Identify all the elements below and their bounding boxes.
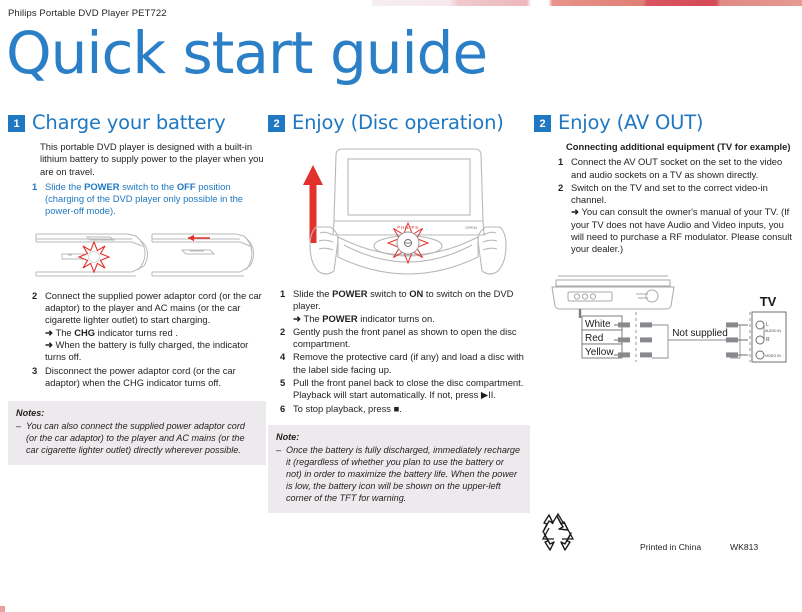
steps-list-1b: 2Connect the supplied power adaptor cord… xyxy=(8,290,266,389)
step-emphasis: POWER xyxy=(322,313,357,324)
control-glyph-icon: ▶II xyxy=(481,389,493,400)
step-item: 2Gently push the front panel as shown to… xyxy=(280,326,530,351)
step-body: Connect the supplied power adaptor cord … xyxy=(45,290,266,364)
section-intro: This portable DVD player is designed wit… xyxy=(8,141,266,178)
svg-text:OPEN: OPEN xyxy=(465,225,476,230)
section-header: 1 Charge your battery xyxy=(8,112,266,133)
step-body: Pull the front panel back to close the d… xyxy=(293,377,530,402)
steps-list-3: 1Connect the AV OUT socket on the set to… xyxy=(534,156,798,255)
step-emphasis: ON xyxy=(409,288,423,299)
step-text: Gently push the front panel as shown to … xyxy=(293,326,517,349)
step-text: You can consult the owner's manual of yo… xyxy=(571,206,792,254)
step-item: 3Disconnect the power adaptor cord (or t… xyxy=(32,365,266,390)
step-text: Connect the supplied power adaptor cord … xyxy=(45,290,262,326)
step-text: When the battery is fully charged, the i… xyxy=(45,339,248,362)
step-number: 1 xyxy=(558,156,567,181)
step-emphasis: POWER xyxy=(332,288,367,299)
note-dash: – xyxy=(276,444,283,504)
section-header: 2 Enjoy (Disc operation) xyxy=(268,112,530,133)
step-number: 2 xyxy=(32,290,41,364)
cable-label-white: White xyxy=(585,319,611,330)
top-color-strip xyxy=(372,0,802,6)
notes-box-disc: Note: – Once the battery is fully discha… xyxy=(268,425,530,513)
steps-list-2: 1Slide the POWER switch to ON to switch … xyxy=(268,288,530,415)
cable-label-yellow: Yellow xyxy=(585,347,614,358)
step-result-line: ➜ The CHG indicator turns red . xyxy=(45,327,266,339)
svg-text:PHILIPS: PHILIPS xyxy=(397,225,418,230)
step-emphasis: CHG xyxy=(74,327,95,338)
step-text: switch to the xyxy=(120,181,177,192)
step-text: . xyxy=(493,389,496,400)
step-number: 1 xyxy=(280,288,289,325)
section-badge: 2 xyxy=(534,115,551,132)
step-item: 1Slide the POWER switch to ON to switch … xyxy=(280,288,530,325)
bottom-color-mark xyxy=(0,606,5,612)
not-supplied-label: Not supplied xyxy=(672,328,728,339)
step-item: 1Connect the AV OUT socket on the set to… xyxy=(558,156,798,181)
step-item: 5Pull the front panel back to close the … xyxy=(280,377,530,402)
step-body: Slide the POWER switch to ON to switch o… xyxy=(293,288,530,325)
step-item: 4Remove the protective card (if any) and… xyxy=(280,351,530,376)
step-result-line: ➜ You can consult the owner's manual of … xyxy=(571,206,798,255)
av-out-connection-diagram: White Red Yellow xyxy=(544,270,798,370)
svg-text:VIDEO IN: VIDEO IN xyxy=(765,354,781,358)
svg-text:AUDIO IN: AUDIO IN xyxy=(765,329,781,333)
notes-box-charge: Notes: – You can also connect the suppli… xyxy=(8,401,266,465)
section-subhead: Connecting additional equipment (TV for … xyxy=(534,141,798,153)
step-item: 1Slide the POWER switch to the OFF posit… xyxy=(32,181,266,218)
section-charge-battery: 1 Charge your battery This portable DVD … xyxy=(8,112,266,465)
step-body: Connect the AV OUT socket on the set to … xyxy=(571,156,798,181)
quick-start-guide-page: Philips Portable DVD Player PET722 Quick… xyxy=(0,0,802,612)
step-item: 2Connect the supplied power adaptor cord… xyxy=(32,290,266,364)
player-open-disc-compartment: PHILIPS OPEN xyxy=(286,145,530,280)
step-body: Slide the POWER switch to the OFF positi… xyxy=(45,181,266,218)
section-enjoy-avout: 2 Enjoy (AV OUT) Connecting additional e… xyxy=(534,112,798,370)
step-number: 2 xyxy=(558,182,567,256)
arrow-bullet-icon: ➜ xyxy=(571,206,581,217)
step-text: Disconnect the power adaptor cord (or th… xyxy=(45,365,236,388)
svg-text:R: R xyxy=(766,337,770,343)
section-title: Charge your battery xyxy=(32,112,226,133)
arrow-bullet-icon: ➜ xyxy=(293,313,303,324)
arrow-bullet-icon: ➜ xyxy=(45,327,55,338)
note-item: – Once the battery is fully discharged, … xyxy=(276,444,522,504)
step-emphasis: OFF xyxy=(177,181,196,192)
step-body: Remove the protective card (if any) and … xyxy=(293,351,530,376)
section-badge: 1 xyxy=(8,115,25,132)
step-emphasis: POWER xyxy=(84,181,119,192)
section-header: 2 Enjoy (AV OUT) xyxy=(534,112,798,133)
step-text: Slide the xyxy=(293,288,332,299)
recycle-icon xyxy=(537,512,579,557)
step-body: Disconnect the power adaptor cord (or th… xyxy=(45,365,266,390)
step-item: 2Switch on the TV and set to the correct… xyxy=(558,182,798,256)
section-title: Enjoy (Disc operation) xyxy=(292,112,504,133)
section-enjoy-disc: 2 Enjoy (Disc operation) xyxy=(268,112,530,513)
step-text: Slide the xyxy=(45,181,84,192)
step-body: Switch on the TV and set to the correct … xyxy=(571,182,798,256)
step-text: The xyxy=(303,313,322,324)
step-text: Remove the protective card (if any) and … xyxy=(293,351,524,374)
section-title: Enjoy (AV OUT) xyxy=(558,112,703,133)
note-item: – You can also connect the supplied powe… xyxy=(16,420,258,456)
step-result-line: ➜ The POWER indicator turns on. xyxy=(293,313,530,325)
svg-text:L: L xyxy=(766,322,769,328)
step-number: 5 xyxy=(280,377,289,402)
step-item: 6To stop playback, press ■. xyxy=(280,403,530,415)
step-text: Connect the AV OUT socket on the set to … xyxy=(571,156,782,179)
player-side-views-charging xyxy=(32,226,266,284)
step-text: To stop playback, press xyxy=(293,403,394,414)
step-number: 4 xyxy=(280,351,289,376)
document-code: WK813 xyxy=(730,542,758,552)
note-dash: – xyxy=(16,420,23,456)
step-number: 2 xyxy=(280,326,289,351)
step-text: switch to xyxy=(368,288,410,299)
cable-label-red: Red xyxy=(585,333,603,344)
step-number: 1 xyxy=(32,181,41,218)
step-text: indicator turns on. xyxy=(358,313,435,324)
arrow-bullet-icon: ➜ xyxy=(45,339,55,350)
note-text: You can also connect the supplied power … xyxy=(26,420,258,456)
page-title: Quick start guide xyxy=(6,22,487,84)
step-text: indicator turns red . xyxy=(95,327,178,338)
note-text: Once the battery is fully discharged, im… xyxy=(286,444,522,504)
step-number: 6 xyxy=(280,403,289,415)
product-kicker: Philips Portable DVD Player PET722 xyxy=(8,8,167,19)
notes-title: Notes: xyxy=(16,407,258,419)
step-text: Switch on the TV and set to the correct … xyxy=(571,182,768,205)
notes-title: Note: xyxy=(276,431,522,443)
section-badge: 2 xyxy=(268,115,285,132)
step-body: To stop playback, press ■. xyxy=(293,403,530,415)
step-body: Gently push the front panel as shown to … xyxy=(293,326,530,351)
step-result-line: ➜ When the battery is fully charged, the… xyxy=(45,339,266,364)
printed-in-label: Printed in China xyxy=(640,542,701,552)
step-number: 3 xyxy=(32,365,41,390)
step-text: . xyxy=(399,403,402,414)
tv-label: TV xyxy=(760,294,777,309)
steps-list-1: 1Slide the POWER switch to the OFF posit… xyxy=(8,181,266,218)
step-text: The xyxy=(55,327,74,338)
